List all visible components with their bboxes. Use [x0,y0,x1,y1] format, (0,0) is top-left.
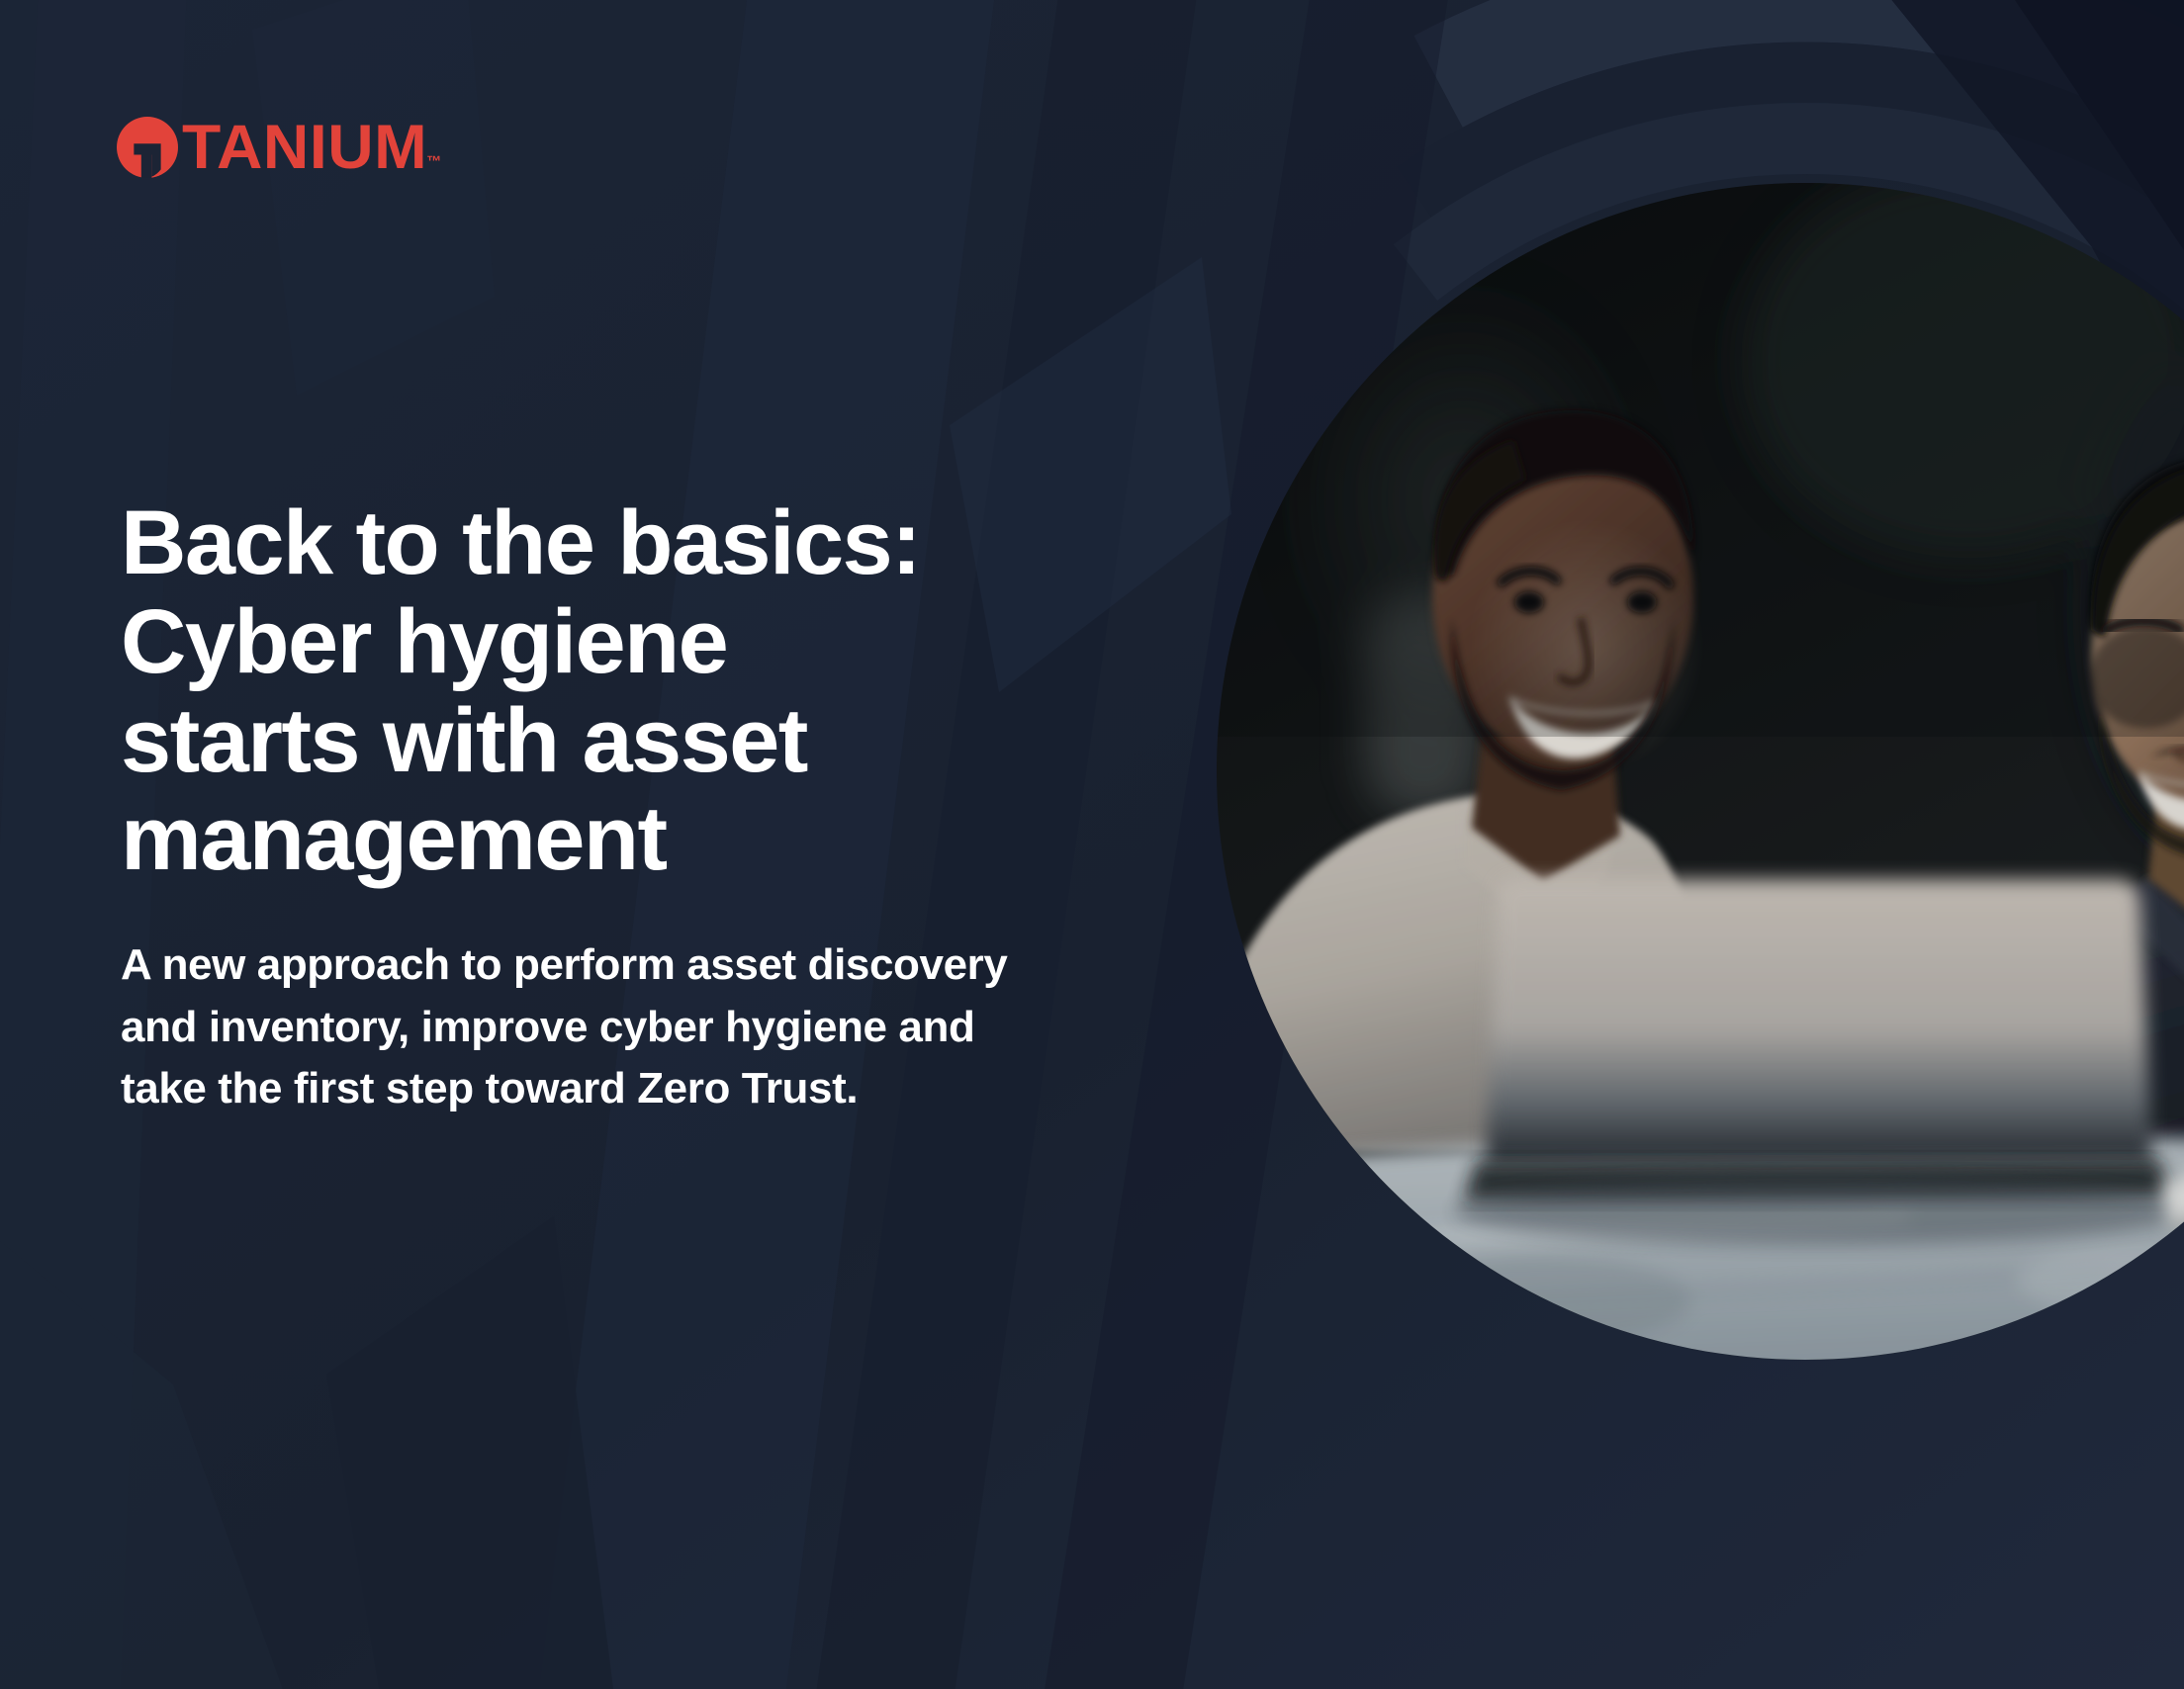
trademark-symbol: ™ [426,154,441,169]
tanium-logo[interactable]: TANIUM ™ [117,117,441,178]
headline-line-4: management [121,790,1041,889]
tanium-circle-t-icon [117,117,178,178]
page-title: Back to the basics: Cyber hygiene starts… [121,494,1041,889]
headline-line-2: Cyber hygiene [121,593,1041,692]
cover-page: TANIUM ™ Back to the basics: Cyber hygie… [0,0,2184,1689]
subhead-line-1: A new approach to perform asset discover… [121,934,1110,996]
subhead-line-2: and inventory, improve cyber hygiene and [121,997,1110,1058]
hero-photo-artwork [1217,183,2184,1360]
page-subtitle: A new approach to perform asset discover… [121,889,1110,1119]
cover-copy: Back to the basics: Cyber hygiene starts… [121,494,1110,1120]
tanium-wordmark-text: TANIUM [182,120,427,176]
subhead-line-3: take the first step toward Zero Trust. [121,1058,1110,1119]
headline-line-1: Back to the basics: [121,494,1041,593]
hero-photo [1217,183,2184,1360]
tanium-wordmark: TANIUM ™ [182,120,441,176]
headline-line-3: starts with asset [121,692,1041,791]
